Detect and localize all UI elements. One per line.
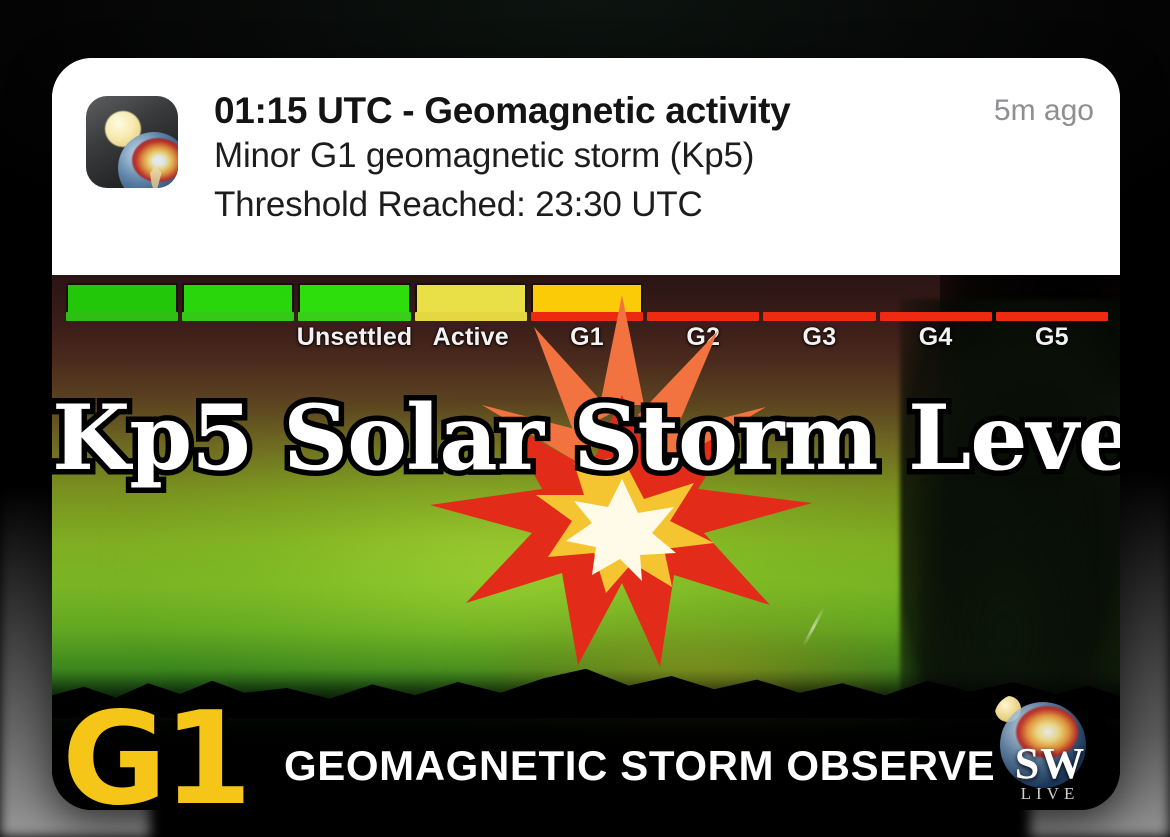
kp-segment-underline: [415, 312, 527, 321]
sw-logo-text: SW: [994, 742, 1106, 786]
notification-title: 01:15 UTC - Geomagnetic activity: [214, 90, 994, 131]
notification-line-1: Minor G1 geomagnetic storm (Kp5): [214, 131, 994, 180]
kp-label-G3: G3: [761, 323, 877, 352]
kp-segment-underline: [880, 312, 992, 321]
notification-banner[interactable]: 01:15 UTC - Geomagnetic activity Minor G…: [52, 58, 1120, 275]
kp-segment-1: [64, 283, 180, 321]
notification-card[interactable]: 01:15 UTC - Geomagnetic activity Minor G…: [52, 58, 1120, 810]
kp-segment-Active: [413, 283, 529, 321]
kp-segment-underline: [298, 312, 410, 321]
kp-segment-G3: [761, 283, 877, 321]
kp-segment-G4: [878, 283, 994, 321]
kp-scale-bars: [64, 283, 1110, 321]
kp-label-1: [64, 323, 180, 352]
kp-label-G5: G5: [994, 323, 1110, 352]
kp-segment-underline: [763, 312, 875, 321]
bottom-status-bar: G1 GEOMAGNETIC STORM OBSERVED SW LIVE: [52, 680, 1120, 810]
notification-text-block: 01:15 UTC - Geomagnetic activity Minor G…: [178, 88, 994, 229]
video-thumbnail[interactable]: UnsettledActiveG1G2G3G4G5: [52, 275, 1120, 810]
kp-label-G4: G4: [878, 323, 994, 352]
kp-segment-Unsettled: [296, 283, 412, 321]
kp-activity-scale: UnsettledActiveG1G2G3G4G5: [64, 283, 1110, 349]
sw-live-logo[interactable]: SW LIVE: [994, 694, 1106, 806]
kp-segment-underline: [182, 312, 294, 321]
kp-label-2: [180, 323, 296, 352]
sw-logo-subtext: LIVE: [994, 784, 1106, 804]
notification-timestamp: 5m ago: [994, 88, 1094, 128]
page-title: Kp5 Solar Storm Level: [52, 385, 1120, 491]
kp-label-G1: G1: [529, 323, 645, 352]
kp-segment-underline: [647, 312, 759, 321]
kp-segment-underline: [66, 312, 178, 321]
kp-label-Active: Active: [413, 323, 529, 352]
kp-scale-labels: UnsettledActiveG1G2G3G4G5: [64, 323, 1110, 352]
kp-segment-G2: [645, 283, 761, 321]
storm-observed-caption: GEOMAGNETIC STORM OBSERVED: [284, 742, 1026, 790]
kp-label-G2: G2: [645, 323, 761, 352]
sun-earth-aurora-app-icon: [86, 96, 178, 188]
kp-segment-underline: [996, 312, 1108, 321]
notification-line-2: Threshold Reached: 23:30 UTC: [214, 180, 994, 229]
kp-segment-G5: [994, 283, 1110, 321]
kp-segment-2: [180, 283, 296, 321]
storm-level-badge: G1: [62, 696, 248, 810]
kp-label-Unsettled: Unsettled: [296, 323, 412, 352]
kp-segment-G1: [529, 283, 645, 321]
kp-segment-underline: [531, 312, 643, 321]
